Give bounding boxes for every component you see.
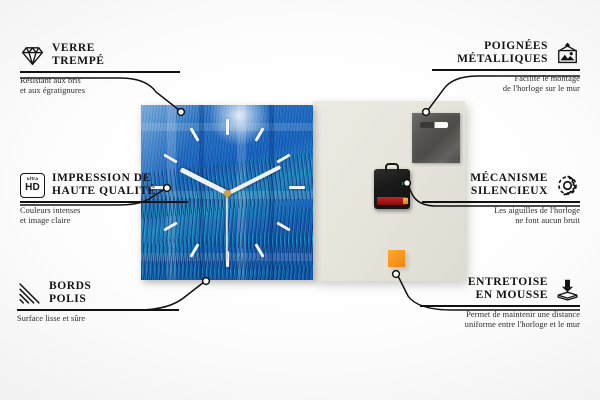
callout-header: MÉCANISME SILENCIEUX [422, 172, 580, 198]
callout-desc-line2: et image claire [20, 216, 188, 226]
callout-header: POIGNÉES MÉTALLIQUES [432, 40, 580, 66]
callout-divider [20, 201, 188, 203]
callout-header: ultra HD IMPRESSION DE HAUTE QUALITÉ [20, 172, 188, 198]
callout-title: ENTRETOISE EN MOUSSE [468, 276, 548, 302]
diamond-icon [20, 43, 45, 68]
callout-desc-line2: uniforme entre l'horloge et le mur [420, 320, 580, 330]
callout-desc-line1: Les aiguilles de l'horloge [422, 206, 580, 216]
callout-desc-line2: ne font aucun bruit [422, 216, 580, 226]
polished-edge-icon [17, 281, 42, 306]
callout-header: VERRE TREMPÉ [20, 42, 180, 68]
arrow-onto-pad-icon [555, 277, 580, 302]
infographic-canvas: VERRE TREMPÉ Résistant aux bris et aux é… [0, 0, 600, 400]
callout-entretoise-en-mousse: ENTRETOISE EN MOUSSE Permet de maintenir… [420, 276, 580, 330]
callout-impression-haute-qualite: ultra HD IMPRESSION DE HAUTE QUALITÉ Cou… [20, 172, 188, 226]
ultra-hd-main-label: HD [25, 183, 40, 193]
callout-title: IMPRESSION DE HAUTE QUALITÉ [52, 172, 156, 198]
callout-title: MÉCANISME SILENCIEUX [470, 172, 548, 198]
hanging-frame-icon [555, 41, 580, 66]
callout-poignees-metalliques: POIGNÉES MÉTALLIQUES Facilite le montage… [432, 40, 580, 94]
callout-divider [432, 69, 580, 71]
ultra-hd-icon: ultra HD [20, 173, 45, 198]
callout-title: POIGNÉES MÉTALLIQUES [457, 40, 548, 66]
callout-desc-line1: Résistant aux bris [20, 76, 180, 86]
callout-divider [422, 201, 580, 203]
callout-bords-polis: BORDS POLIS Surface lisse et sûre [17, 280, 179, 324]
callout-divider [20, 71, 180, 73]
callout-divider [420, 305, 580, 307]
callout-title: VERRE TREMPÉ [52, 42, 105, 68]
callout-header: BORDS POLIS [17, 280, 179, 306]
callout-desc-line1: Couleurs intenses [20, 206, 188, 216]
callout-desc-line1: Surface lisse et sûre [17, 314, 179, 324]
callout-mecanisme-silencieux: MÉCANISME SILENCIEUX Les aiguilles de l'… [422, 172, 580, 226]
connector-endpoint-mecanisme [404, 180, 411, 187]
callout-desc-line1: Permet de maintenir une distance [420, 310, 580, 320]
callout-verre-trempe: VERRE TREMPÉ Résistant aux bris et aux é… [20, 42, 180, 96]
callout-desc-line1: Facilite le montage [432, 74, 580, 84]
callout-title: BORDS POLIS [49, 280, 91, 306]
connector-endpoint-verre [178, 109, 185, 116]
connector-endpoint-bords [203, 278, 210, 285]
callout-header: ENTRETOISE EN MOUSSE [420, 276, 580, 302]
connector-endpoint-poignees [423, 109, 430, 116]
callout-desc-line2: de l'horloge sur le mur [432, 84, 580, 94]
connector-endpoint-entretoise [393, 271, 400, 278]
callout-desc-line2: et aux égratignures [20, 86, 180, 96]
gear-icon [555, 173, 580, 198]
callout-divider [17, 309, 179, 311]
